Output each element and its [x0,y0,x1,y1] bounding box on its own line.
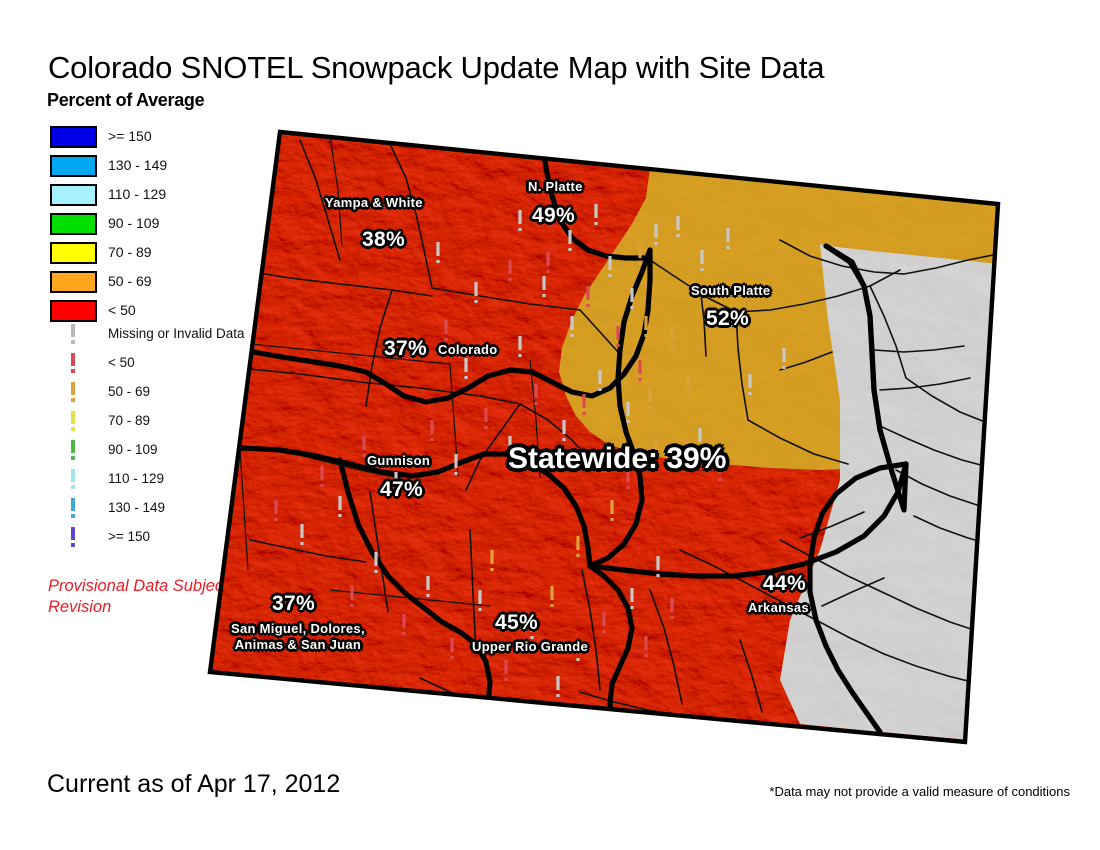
basin-percent-n-platte: 49% [532,204,575,228]
basin-percent-san-juan: 37% [272,592,315,616]
legend-site-label: 90 - 109 [108,442,158,457]
site-marker-icon [71,353,75,373]
map-svg [180,120,1020,760]
legend-site-label: 50 - 69 [108,384,150,399]
site-marker-icon [71,527,75,547]
legend-swatch-label: 110 - 129 [108,186,166,202]
data-disclaimer: *Data may not provide a valid measure of… [769,784,1070,799]
legend-swatch [50,155,97,177]
legend-site-label: 110 - 129 [108,471,164,486]
page-subtitle: Percent of Average [47,90,204,111]
site-marker-icon [71,324,75,344]
legend-site-label: < 50 [108,355,135,370]
legend-swatch-label: 70 - 89 [108,244,152,260]
basin-label-gunnison: Gunnison [367,454,430,469]
current-as-of-date: Current as of Apr 17, 2012 [47,770,340,799]
basin-percent-gunnison: 47% [380,478,423,502]
basin-label-upper-rio-grande: Upper Rio Grande [472,640,588,655]
legend-swatch-label: 90 - 109 [108,215,159,231]
site-marker-icon [71,469,75,489]
legend-swatch-label: 130 - 149 [108,157,167,173]
legend-swatch-label: >= 150 [108,128,152,144]
basin-percent-arkansas: 44% [763,572,806,596]
legend-swatch-label: < 50 [108,302,136,318]
basin-label-san-juan: San Miguel, Dolores, Animas & San Juan [231,621,365,653]
basin-label-yampa-white: Yampa & White [325,196,423,211]
basin-percent-colorado: 37% [384,337,427,361]
basin-label-arkansas: Arkansas [748,601,809,616]
legend-swatch [50,126,97,148]
legend-swatch [50,271,97,293]
basin-percent-yampa-white: 38% [362,228,405,252]
colorado-snotel-map[interactable]: Yampa & White 38% N. Platte 49% South Pl… [180,120,1020,760]
legend-swatch [50,300,97,322]
legend-swatch-label: 50 - 69 [108,273,152,289]
basin-label-south-platte: South Platte [691,284,770,299]
basin-percent-upper-rio-grande: 45% [495,611,538,635]
legend-site-label: 130 - 149 [108,500,165,515]
page-title: Colorado SNOTEL Snowpack Update Map with… [48,50,824,86]
site-marker-icon [71,382,75,402]
legend-swatch [50,242,97,264]
site-marker-icon [71,440,75,460]
legend-site-label: 70 - 89 [108,413,150,428]
legend-swatch [50,184,97,206]
basin-label-colorado: Colorado [438,343,497,358]
site-marker-icon [71,411,75,431]
basin-percent-south-platte: 52% [706,307,749,331]
site-marker-icon [71,498,75,518]
statewide-label: Statewide: 39% [508,442,726,477]
basin-label-n-platte: N. Platte [528,180,583,195]
legend-swatch [50,213,97,235]
legend-site-label: >= 150 [108,529,150,544]
